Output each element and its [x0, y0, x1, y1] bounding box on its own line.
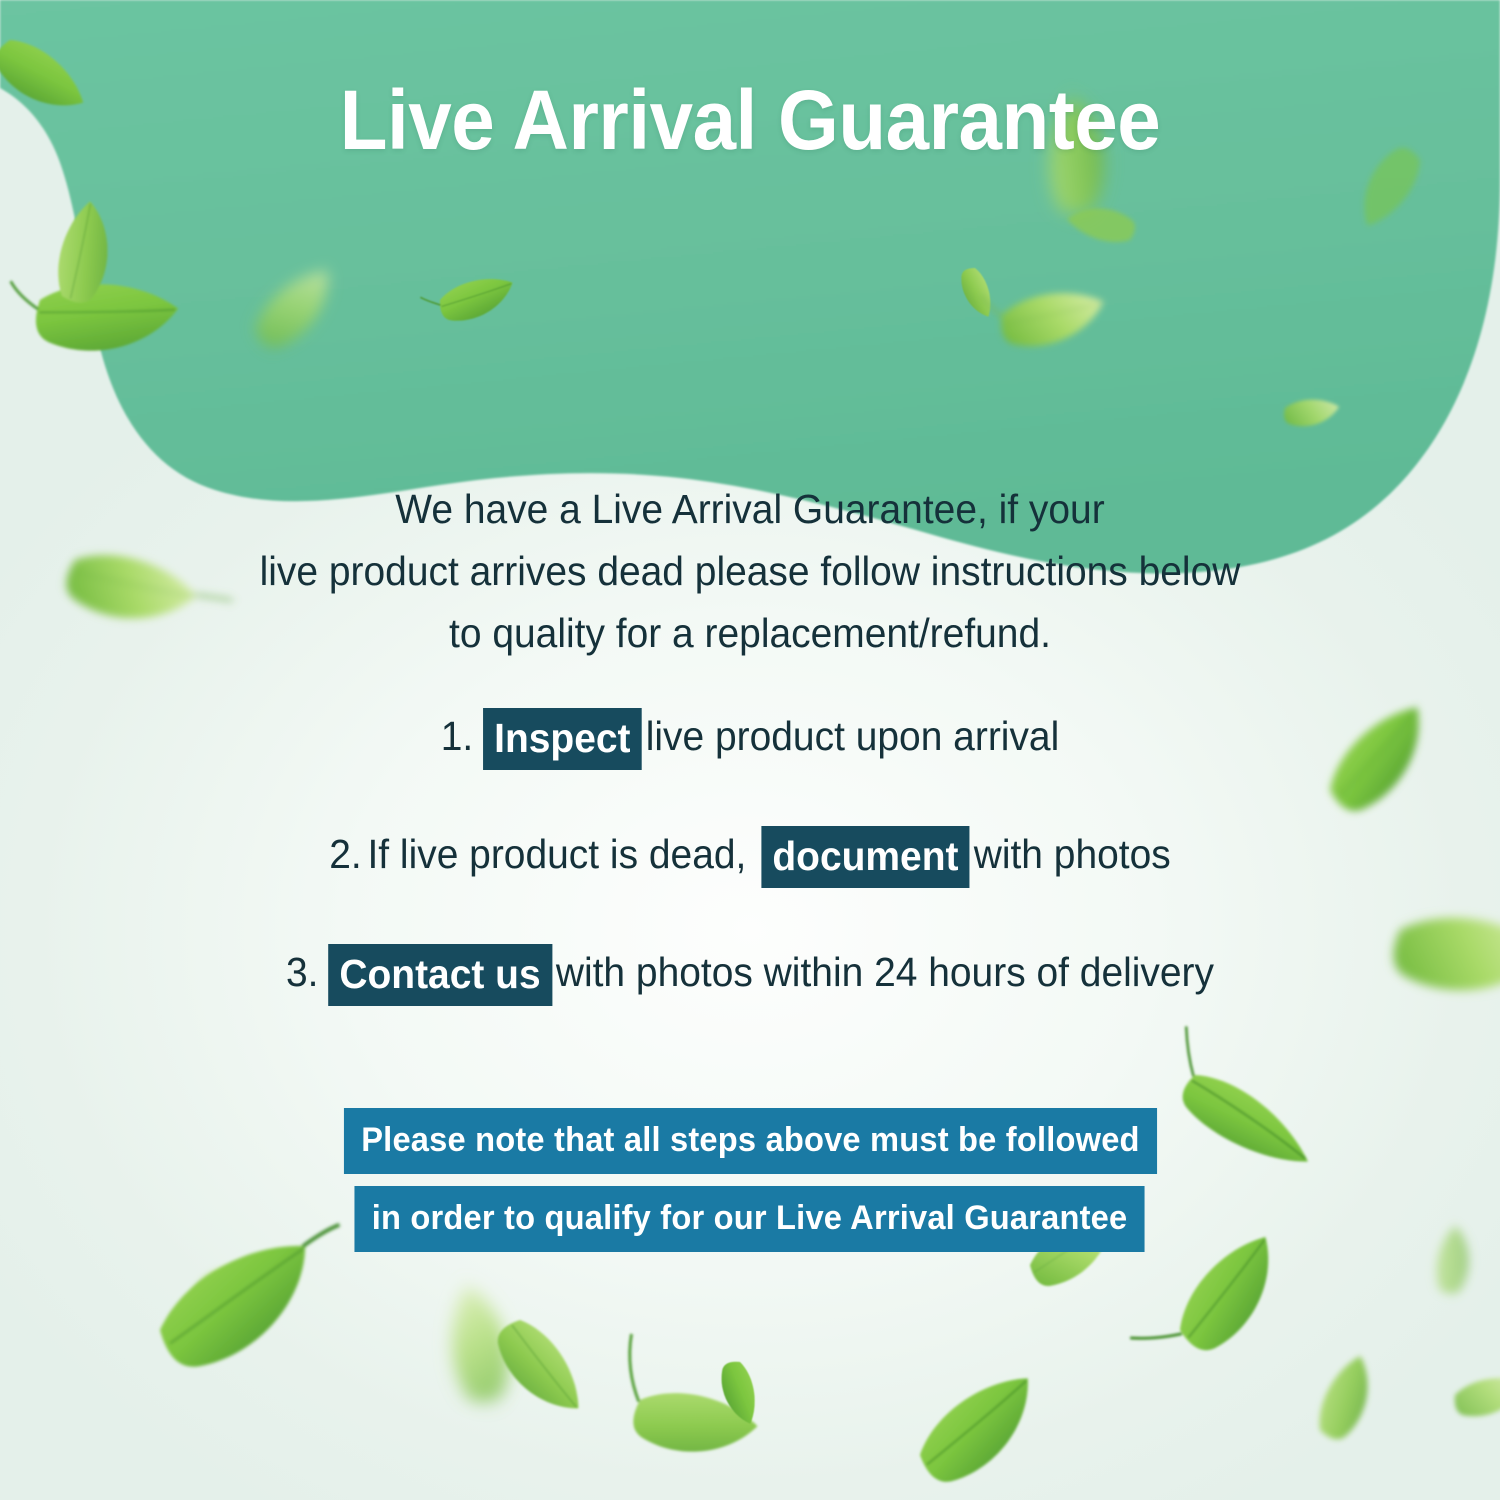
step-3-highlight-contact-us[interactable]: Contact us	[328, 944, 552, 1006]
notice-line-1: Please note that all steps above must be…	[343, 1108, 1156, 1174]
step-2-text-after: with photos	[974, 831, 1171, 877]
step-2-highlight-document[interactable]: document	[761, 826, 970, 888]
step-2-text-before: If live product is dead,	[367, 831, 746, 877]
step-item-1: 1.Inspectlive product upon arrival	[95, 700, 1406, 772]
intro-paragraph: We have a Live Arrival Guarantee, if you…	[180, 478, 1320, 664]
step-item-2: 2.If live product is dead, documentwith …	[95, 818, 1406, 890]
poster-canvas: Live Arrival Guarantee	[0, 0, 1500, 1500]
intro-line-1: We have a Live Arrival Guarantee, if you…	[395, 486, 1104, 532]
intro-line-3: to quality for a replacement/refund.	[449, 610, 1051, 656]
notice-line-2: in order to qualify for our Live Arrival…	[355, 1186, 1145, 1252]
step-3-number: 3.	[286, 949, 318, 995]
step-3-text-after: with photos within 24 hours of delivery	[556, 949, 1214, 995]
content-layer: We have a Live Arrival Guarantee, if you…	[0, 0, 1500, 1500]
step-1-text-after: live product upon arrival	[646, 713, 1060, 759]
step-1-highlight-inspect[interactable]: Inspect	[483, 708, 642, 770]
notice-banner: Please note that all steps above must be…	[0, 1108, 1500, 1252]
steps-list: 1.Inspectlive product upon arrival 2.If …	[60, 700, 1440, 1008]
intro-line-2: live product arrives dead please follow …	[260, 548, 1241, 594]
step-2-number: 2.	[329, 831, 361, 877]
step-item-3: 3.Contact uswith photos within 24 hours …	[95, 936, 1406, 1008]
step-1-number: 1.	[441, 713, 473, 759]
